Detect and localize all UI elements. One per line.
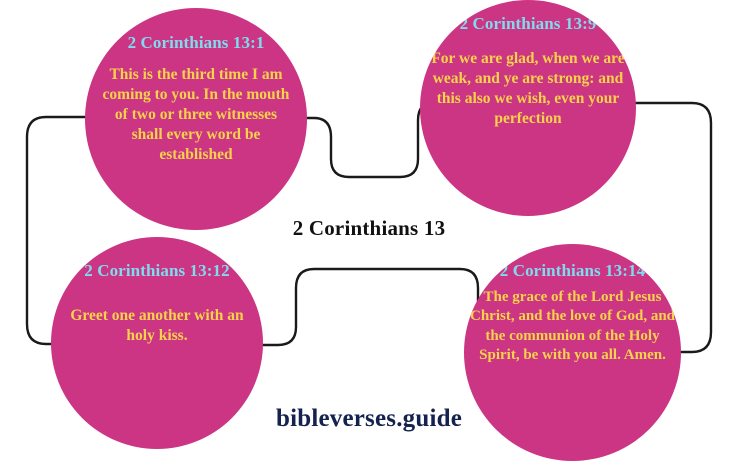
verse-reference: 2 Corinthians 13:12 [77, 261, 237, 282]
verse-reference: 2 Corinthians 13:14 [493, 261, 653, 282]
verse-text: This is the third time I am coming to yo… [98, 65, 294, 166]
verse-node-2-corinthians-13-9[interactable]: 2 Corinthians 13:9 For we are glad, when… [420, 0, 636, 216]
verse-node-2-corinthians-13-1[interactable]: 2 Corinthians 13:1 This is the third tim… [85, 8, 307, 230]
verse-text: For we are glad, when we are weak, and y… [428, 49, 628, 130]
verse-reference: 2 Corinthians 13:1 [121, 33, 271, 54]
mindmap-canvas: 2 Corinthians 13:1 This is the third tim… [0, 0, 738, 470]
chapter-title: 2 Corinthians 13 [0, 216, 738, 241]
verse-text: Greet one another with an holy kiss. [68, 306, 246, 346]
verse-text: The grace of the Lord Jesus Christ, and … [469, 288, 676, 366]
site-watermark: bibleverses.guide [0, 405, 738, 433]
verse-reference: 2 Corinthians 13:9 [453, 14, 603, 35]
